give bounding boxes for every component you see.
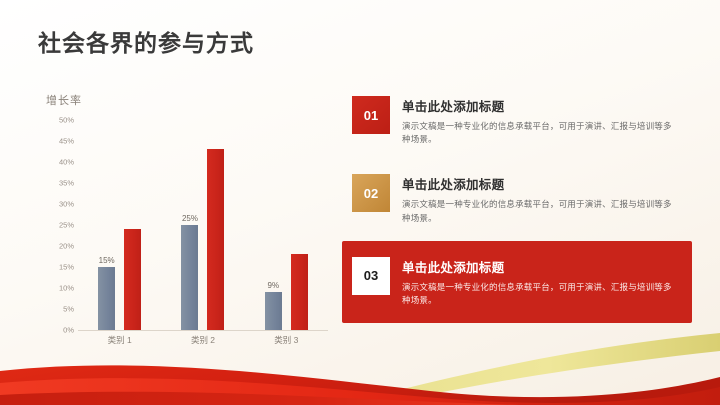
bar-column bbox=[291, 120, 308, 330]
card-badge-03: 03 bbox=[352, 257, 390, 295]
content-cards: 01 单击此处添加标题 演示文稿是一种专业化的信息承载平台，可用于演讲、汇报与培… bbox=[342, 84, 692, 329]
bar-column bbox=[124, 120, 141, 330]
bar-blue[interactable] bbox=[181, 225, 198, 330]
card-badge-02: 02 bbox=[352, 174, 390, 212]
y-axis-tick: 15% bbox=[59, 263, 74, 272]
y-axis-tick: 10% bbox=[59, 284, 74, 293]
card-body-03: 单击此处添加标题 演示文稿是一种专业化的信息承载平台，可用于演讲、汇报与培训等多… bbox=[402, 255, 680, 307]
y-axis-tick: 35% bbox=[59, 179, 74, 188]
bar-value-label: 15% bbox=[99, 256, 115, 265]
page-title: 社会各界的参与方式 bbox=[38, 24, 254, 58]
y-axis-tick: 50% bbox=[59, 116, 74, 125]
bar-group: 15% bbox=[78, 120, 161, 330]
y-axis-tick: 5% bbox=[63, 305, 74, 314]
bar-red[interactable] bbox=[124, 229, 141, 330]
plot-area: 15%25%9% bbox=[78, 120, 328, 330]
card-03[interactable]: 03 单击此处添加标题 演示文稿是一种专业化的信息承载平台，可用于演讲、汇报与培… bbox=[342, 241, 692, 323]
bar-value-label: 9% bbox=[268, 281, 280, 290]
card-text-02: 演示文稿是一种专业化的信息承载平台，可用于演讲、汇报与培训等多种场景。 bbox=[402, 198, 680, 224]
bar-blue[interactable] bbox=[98, 267, 115, 330]
y-axis-tick: 20% bbox=[59, 242, 74, 251]
x-axis-label: 类别 3 bbox=[245, 334, 328, 346]
card-title-01: 单击此处添加标题 bbox=[402, 96, 680, 115]
card-badge-01: 01 bbox=[352, 96, 390, 134]
y-axis: 50%45%40%35%30%25%20%15%10%5%0% bbox=[36, 120, 76, 330]
card-02[interactable]: 02 单击此处添加标题 演示文稿是一种专业化的信息承载平台，可用于演讲、汇报与培… bbox=[342, 162, 692, 234]
bar-chart: 增长率 50%45%40%35%30%25%20%15%10%5%0% 15%2… bbox=[36, 92, 336, 360]
bar-column: 15% bbox=[98, 120, 115, 330]
card-body-02: 单击此处添加标题 演示文稿是一种专业化的信息承载平台，可用于演讲、汇报与培训等多… bbox=[402, 172, 680, 224]
x-axis-label: 类别 1 bbox=[78, 334, 161, 346]
slide-canvas: 社会各界的参与方式 增长率 50%45%40%35%30%25%20%15%10… bbox=[0, 0, 720, 405]
y-axis-tick: 45% bbox=[59, 137, 74, 146]
card-01[interactable]: 01 单击此处添加标题 演示文稿是一种专业化的信息承载平台，可用于演讲、汇报与培… bbox=[342, 84, 692, 156]
x-axis-label: 类别 2 bbox=[162, 334, 245, 346]
bar-group: 25% bbox=[162, 120, 245, 330]
bar-red[interactable] bbox=[207, 149, 224, 330]
y-axis-tick: 40% bbox=[59, 158, 74, 167]
bar-column: 25% bbox=[181, 120, 198, 330]
chart-title: 增长率 bbox=[46, 92, 82, 108]
y-axis-tick: 30% bbox=[59, 200, 74, 209]
y-axis-tick: 0% bbox=[63, 326, 74, 335]
card-title-02: 单击此处添加标题 bbox=[402, 174, 680, 193]
x-axis-line bbox=[78, 330, 328, 331]
bar-red[interactable] bbox=[291, 254, 308, 330]
bar-column bbox=[207, 120, 224, 330]
card-title-03: 单击此处添加标题 bbox=[402, 257, 680, 276]
bar-blue[interactable] bbox=[265, 292, 282, 330]
x-axis-labels: 类别 1类别 2类别 3 bbox=[78, 334, 328, 346]
card-text-01: 演示文稿是一种专业化的信息承载平台，可用于演讲、汇报与培训等多种场景。 bbox=[402, 120, 680, 146]
bar-column: 9% bbox=[265, 120, 282, 330]
bar-value-label: 25% bbox=[182, 214, 198, 223]
card-body-01: 单击此处添加标题 演示文稿是一种专业化的信息承载平台，可用于演讲、汇报与培训等多… bbox=[402, 94, 680, 146]
card-text-03: 演示文稿是一种专业化的信息承载平台，可用于演讲、汇报与培训等多种场景。 bbox=[402, 281, 680, 307]
bar-group: 9% bbox=[245, 120, 328, 330]
y-axis-tick: 25% bbox=[59, 221, 74, 230]
bar-groups: 15%25%9% bbox=[78, 120, 328, 330]
